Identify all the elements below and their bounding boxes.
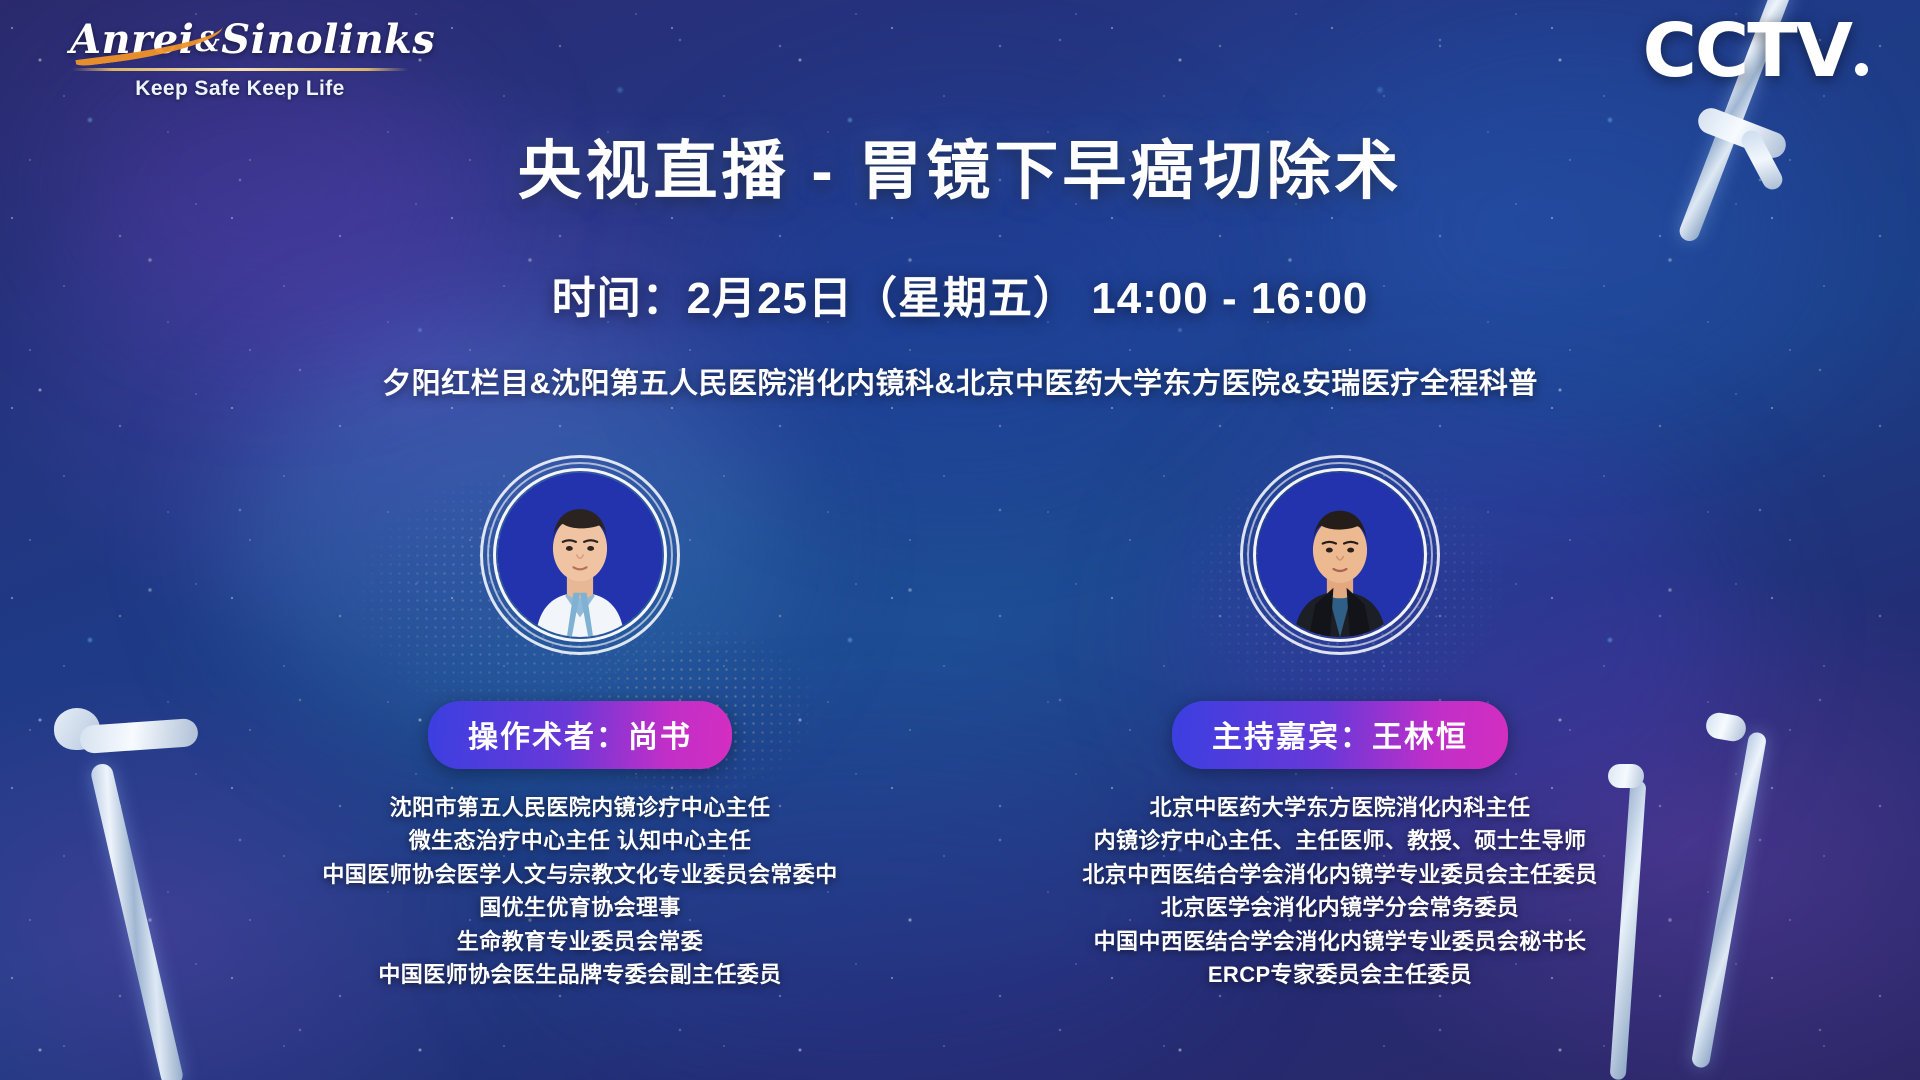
- organizations-line: 夕阳红栏目&沈阳第五人民医院消化内镜科&北京中医药大学东方医院&安瑞医疗全程科普: [0, 360, 1920, 402]
- speaker-credentials: 北京中医药大学东方医院消化内科主任 内镜诊疗中心主任、主任医师、教授、硕士生导师…: [960, 791, 1720, 992]
- credential-line: 北京医学会消化内镜学分会常务委员: [960, 891, 1720, 924]
- credential-line: 国优生优育协会理事: [200, 891, 960, 924]
- avatar: [480, 455, 680, 655]
- brand-name-part1: Anrei: [70, 16, 194, 63]
- brand-tagline: Keep Safe Keep Life: [70, 77, 410, 101]
- poster-canvas: Anrei&Sinolinks Keep Safe Keep Life CCTV…: [0, 0, 1920, 1080]
- nebula-glow: [1340, 60, 1800, 390]
- avatar: [1240, 455, 1440, 655]
- speaker-role-badge: 主持嘉宾：王林恒: [1172, 701, 1508, 769]
- brand-ampersand: &: [195, 27, 220, 58]
- event-time: 时间：2月25日（星期五） 14:00 - 16:00: [0, 262, 1920, 326]
- credential-line: 中国医师协会医学人文与宗教文化专业委员会常委中: [200, 858, 960, 891]
- speaker-card-host: 主持嘉宾：王林恒 北京中医药大学东方医院消化内科主任 内镜诊疗中心主任、主任医师…: [960, 455, 1720, 992]
- cctv-logo: CCTV: [1643, 14, 1868, 88]
- credential-line: 沈阳市第五人民医院内镜诊疗中心主任: [200, 791, 960, 824]
- speakers-section: 操作术者：尚书 沈阳市第五人民医院内镜诊疗中心主任 微生态治疗中心主任 认知中心…: [0, 455, 1920, 992]
- credential-line: 北京中医药大学东方医院消化内科主任: [960, 791, 1720, 824]
- brand-name-part2: Sinolinks: [221, 16, 435, 63]
- credential-line: 北京中西医结合学会消化内镜学专业委员会主任委员: [960, 858, 1720, 891]
- page-title: 央视直播 - 胃镜下早癌切除术: [0, 120, 1920, 212]
- brand-wordmark: Anrei&Sinolinks: [70, 16, 410, 63]
- speaker-credentials: 沈阳市第五人民医院内镜诊疗中心主任 微生态治疗中心主任 认知中心主任 中国医师协…: [200, 791, 960, 992]
- speaker-portrait-host: [1258, 473, 1422, 637]
- speaker-role-badge: 操作术者：尚书: [428, 701, 732, 769]
- cctv-wordmark: CCTV: [1643, 8, 1851, 94]
- credential-line: 微生态治疗中心主任 认知中心主任: [200, 824, 960, 857]
- credential-line: 生命教育专业委员会常委: [200, 925, 960, 958]
- brand-divider: [72, 68, 408, 71]
- credential-line: 内镜诊疗中心主任、主任医师、教授、硕士生导师: [960, 824, 1720, 857]
- brand-logo: Anrei&Sinolinks Keep Safe Keep Life: [70, 16, 410, 101]
- credential-line: 中国医师协会医生品牌专委会副主任委员: [200, 958, 960, 991]
- speaker-card-operator: 操作术者：尚书 沈阳市第五人民医院内镜诊疗中心主任 微生态治疗中心主任 认知中心…: [200, 455, 960, 992]
- credential-line: ERCP专家委员会主任委员: [960, 958, 1720, 991]
- cctv-dot-icon: [1855, 63, 1868, 76]
- credential-line: 中国中西医结合学会消化内镜学专业委员会秘书长: [960, 925, 1720, 958]
- speaker-portrait-operator: [498, 473, 662, 637]
